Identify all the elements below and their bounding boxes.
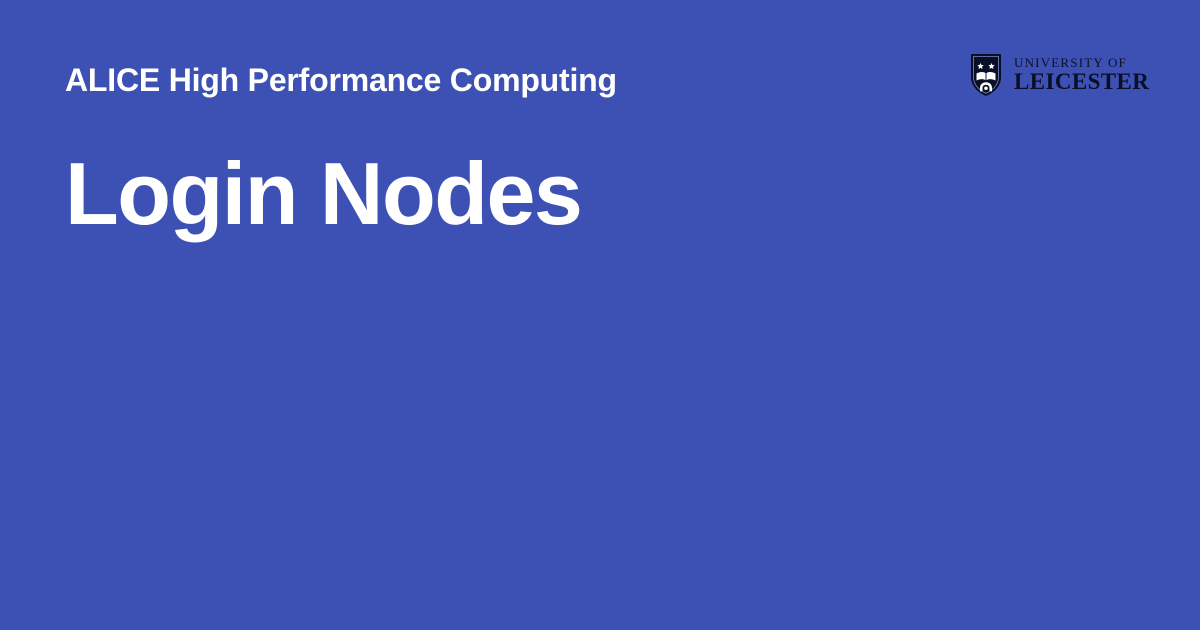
banner-eyebrow: ALICE High Performance Computing [65,60,945,100]
logo-line-leicester: LEICESTER [1014,70,1149,94]
shield-icon [970,53,1002,97]
university-logo: UNIVERSITY OF LEICESTER [970,53,1149,97]
logo-wordmark: UNIVERSITY OF LEICESTER [1014,56,1149,94]
banner-text-block: ALICE High Performance Computing Login N… [65,60,945,242]
title-banner: ALICE High Performance Computing Login N… [0,0,1200,630]
page-title: Login Nodes [65,100,945,242]
logo-line-university-of: UNIVERSITY OF [1014,56,1127,70]
